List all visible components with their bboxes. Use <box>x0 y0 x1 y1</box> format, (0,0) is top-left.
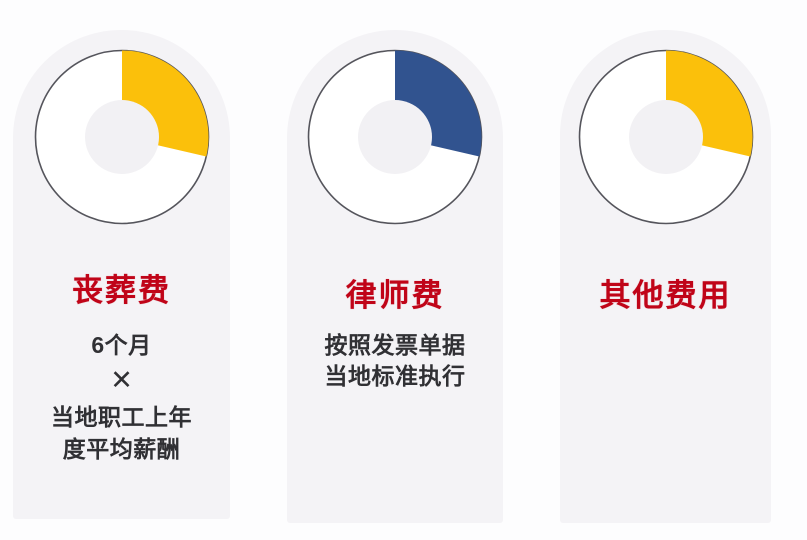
donut-chart-lawyer-fee <box>306 48 484 226</box>
card-title: 丧葬费 <box>13 273 230 310</box>
detail-line-1: 按照发票单据 <box>287 330 503 361</box>
detail-line-2: 当地标准执行 <box>287 361 503 392</box>
multiply-icon: ✕ <box>13 367 230 394</box>
detail-lines-group: 当地职工上年 度平均薪酬 <box>13 402 230 465</box>
donut-chart-funeral-expense <box>33 48 211 226</box>
detail-lines-group: 按照发票单据 当地标准执行 <box>287 330 503 393</box>
donut-chart-other-expense <box>577 48 755 226</box>
card-title: 律师费 <box>287 278 503 315</box>
donut-inner-hole <box>85 100 159 174</box>
detail-line-1: 当地职工上年 <box>13 402 230 433</box>
card-text-block: 其他费用 <box>560 278 771 315</box>
card-funeral-expense[interactable]: 丧葬费 6个月 ✕ 当地职工上年 度平均薪酬 <box>13 30 230 519</box>
card-text-block: 律师费 按照发票单据 当地标准执行 <box>287 278 503 392</box>
donut-inner-hole <box>629 100 703 174</box>
detail-line-months: 6个月 <box>13 330 230 361</box>
card-text-block: 丧葬费 6个月 ✕ 当地职工上年 度平均薪酬 <box>13 273 230 465</box>
donut-wrapper <box>560 48 771 226</box>
detail-line-2: 度平均薪酬 <box>13 434 230 465</box>
donut-wrapper <box>287 48 503 226</box>
card-lawyer-fee[interactable]: 律师费 按照发票单据 当地标准执行 <box>287 30 503 523</box>
donut-wrapper <box>13 48 230 226</box>
card-other-expense[interactable]: 其他费用 <box>560 30 771 523</box>
donut-inner-hole <box>358 100 432 174</box>
infographic-root: 丧葬费 6个月 ✕ 当地职工上年 度平均薪酬 律师费 按照发票单据 当地标准执行 <box>0 0 807 540</box>
card-title: 其他费用 <box>560 278 771 315</box>
